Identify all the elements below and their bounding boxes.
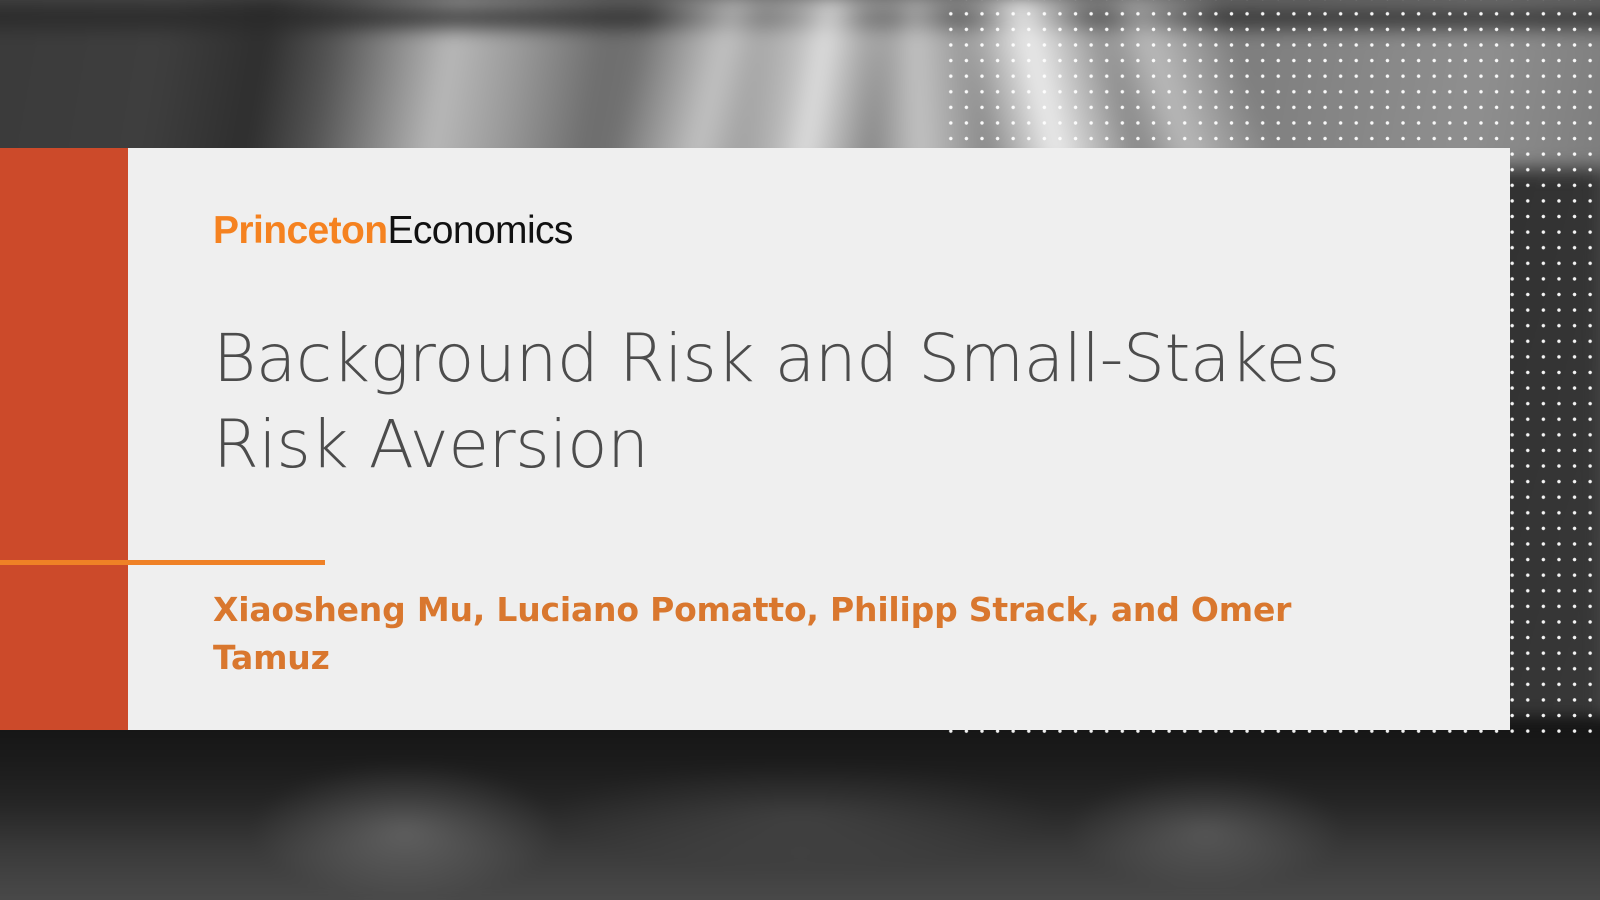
title-slide: PrincetonEconomics Background Risk and S…	[0, 0, 1600, 900]
title-line-1: Background Risk and Small-Stakes	[213, 320, 1340, 397]
author-list: Xiaosheng Mu, Luciano Pomatto, Philipp S…	[213, 586, 1313, 682]
background-floor-seating	[0, 716, 1600, 900]
logo-word-economics: Economics	[387, 209, 572, 252]
author-line-1: Xiaosheng Mu, Luciano Pomatto, Philipp S…	[213, 590, 1100, 629]
title-line-2: Risk Aversion	[213, 406, 649, 483]
page-title: Background Risk and Small-Stakes Risk Av…	[213, 316, 1393, 488]
logo-word-princeton: Princeton	[213, 209, 387, 252]
left-accent-bar	[0, 148, 128, 730]
divider-rule	[0, 560, 325, 565]
background-ceiling-lights	[0, 0, 1600, 168]
brand-logo: PrincetonEconomics	[213, 208, 573, 254]
